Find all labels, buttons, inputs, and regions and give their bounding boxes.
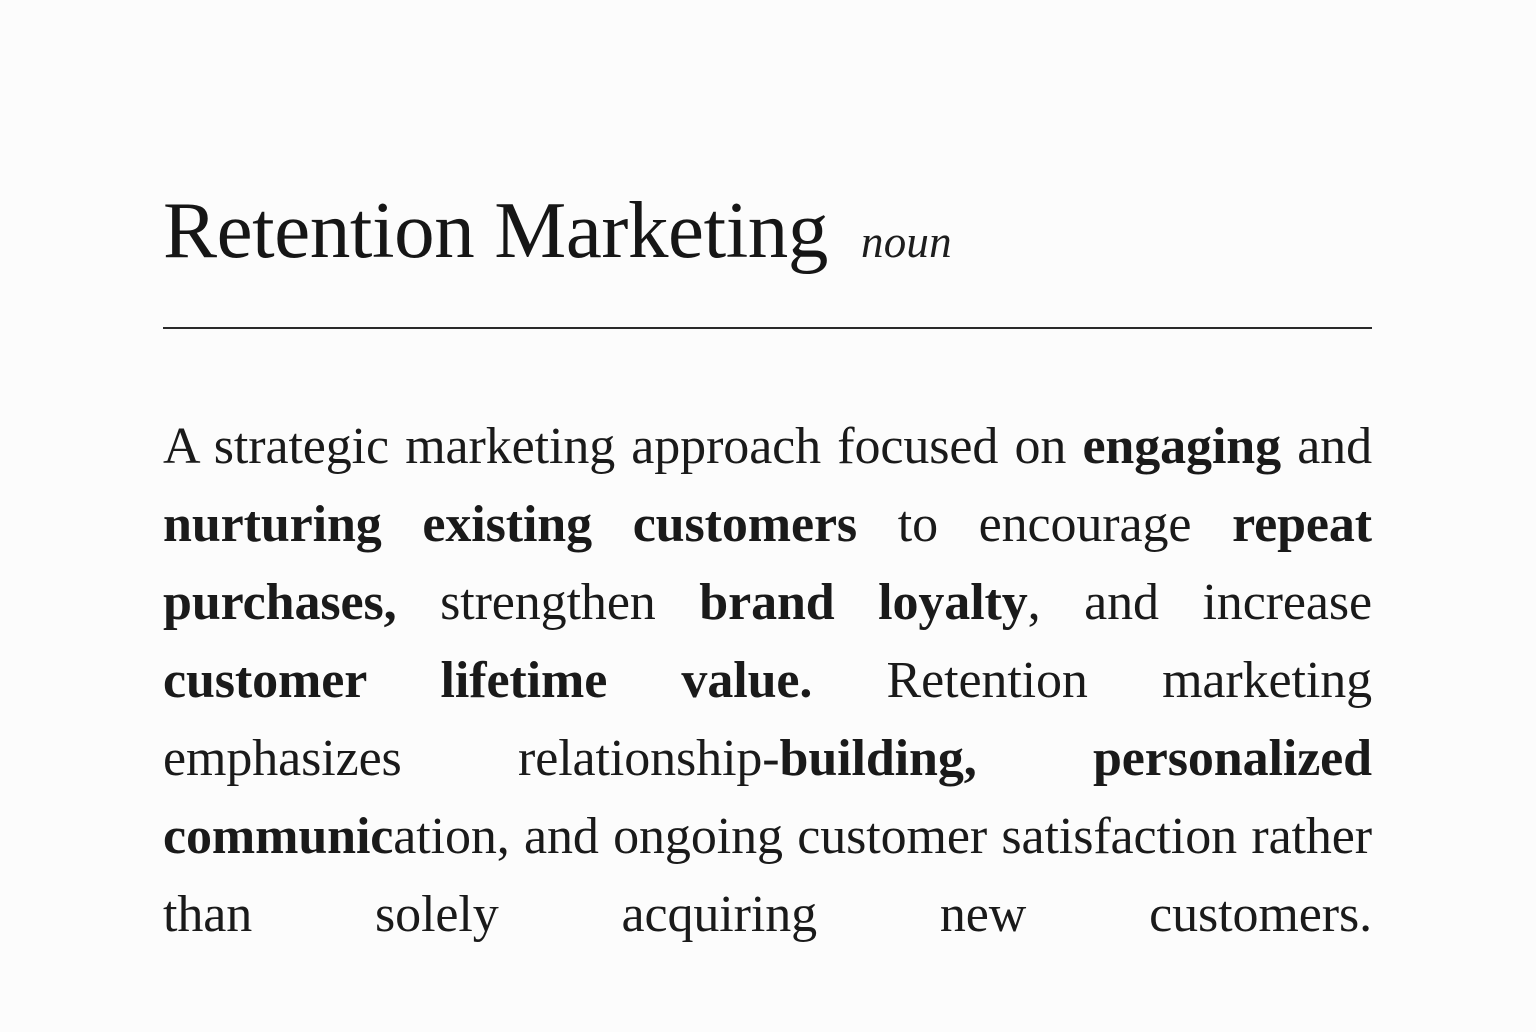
definition-term-emphasis: brand loyalty — [699, 574, 1027, 631]
definition-text-run: A strategic marketing approach focused o… — [163, 418, 1082, 475]
title-divider — [163, 327, 1372, 329]
definition-card: Retention Marketing noun A strategic mar… — [163, 0, 1372, 1024]
definition-term-emphasis: engaging — [1082, 418, 1281, 475]
part-of-speech-label: noun — [861, 220, 952, 265]
definition-text: A strategic marketing approach focused o… — [163, 408, 1372, 1032]
definition-term-emphasis: nurturing existing customers — [163, 496, 857, 553]
definition-term-emphasis: customer lifetime value. — [163, 652, 812, 709]
definition-text-run: to encourage — [857, 496, 1232, 553]
definition-text-run: , and increase — [1028, 574, 1372, 631]
page-title: Retention Marketing — [163, 190, 828, 271]
headword-row: Retention Marketing noun — [163, 190, 1372, 271]
definition-text-run: and — [1281, 418, 1372, 475]
definition-text-run: strengthen — [397, 574, 700, 631]
